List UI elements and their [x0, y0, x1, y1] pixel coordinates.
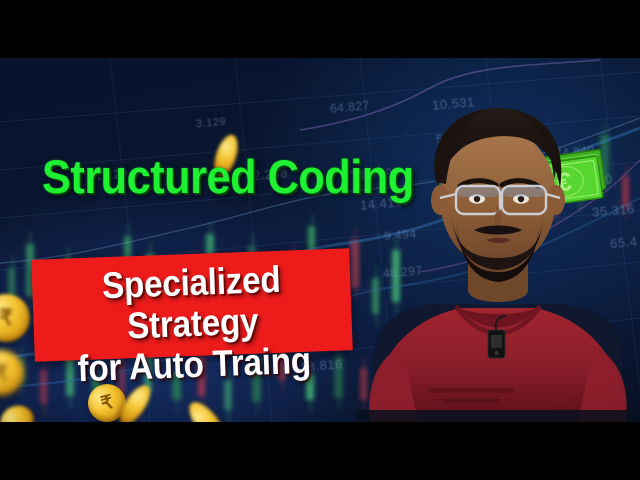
letterbox-top — [0, 0, 640, 58]
video-thumbnail: 10.53157.05664.82742.26874.84914.41174.8… — [0, 0, 640, 480]
video-frame: 10.53157.05664.82742.26874.84914.41174.8… — [0, 58, 640, 422]
gold-coin-icon: ₹ — [0, 350, 24, 396]
banner-line-1: Specialized Strategy — [101, 259, 281, 347]
presenter-person — [356, 58, 640, 422]
gold-coin-icon: ₹ — [0, 294, 30, 342]
banner-text: Specialized Strategy for Auto Traing — [47, 257, 338, 390]
letterbox-bottom — [0, 422, 640, 480]
page-title: Structured Coding — [42, 152, 414, 202]
status-badge: Specialized Strategy for Auto Traing — [31, 248, 353, 362]
